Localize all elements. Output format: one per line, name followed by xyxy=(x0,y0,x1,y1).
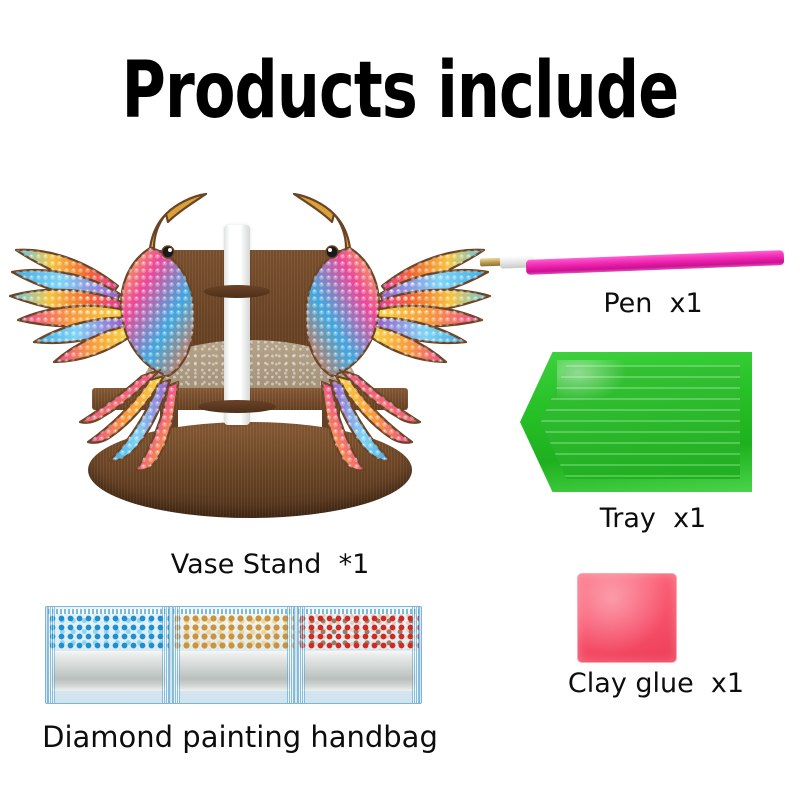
hummingbird-left-icon xyxy=(0,190,250,490)
clay-glue-label: Clay glue x1 xyxy=(516,669,796,699)
packet-foil-label xyxy=(301,651,416,691)
hummingbird-right-icon xyxy=(250,190,500,490)
tray-body xyxy=(520,352,752,492)
packet-seam-left xyxy=(48,607,55,703)
handbag-illustration xyxy=(45,606,422,704)
packet-gems-red xyxy=(298,614,419,650)
page-title: Products include xyxy=(56,52,744,130)
packet-foil-label xyxy=(51,651,166,691)
vase-stand-label: Vase Stand *1 xyxy=(80,550,460,580)
packet-gems-blue xyxy=(48,614,169,650)
product-contents-poster: Products include xyxy=(0,0,800,800)
diamond-packet xyxy=(297,607,420,703)
tray-label: Tray x1 xyxy=(523,504,783,534)
packet-gems-gold xyxy=(173,614,294,650)
packet-seam-left xyxy=(298,607,305,703)
tray-illustration xyxy=(520,352,752,492)
packet-seam-right xyxy=(412,607,419,703)
pen-label: Pen x1 xyxy=(523,289,783,319)
packet-foil-label xyxy=(176,651,291,691)
handbag-label: Diamond painting handbag xyxy=(20,722,460,754)
vase-stand-illustration xyxy=(0,190,500,520)
diamond-packet xyxy=(47,607,170,703)
tray-grooves xyxy=(541,365,741,480)
pen-illustration xyxy=(478,243,788,283)
pen-body xyxy=(526,250,784,275)
diamond-packet xyxy=(172,607,295,703)
packet-seam-left xyxy=(173,607,180,703)
clay-glue-illustration xyxy=(577,573,677,663)
packet-seam-right xyxy=(287,607,294,703)
packet-seam-right xyxy=(162,607,169,703)
